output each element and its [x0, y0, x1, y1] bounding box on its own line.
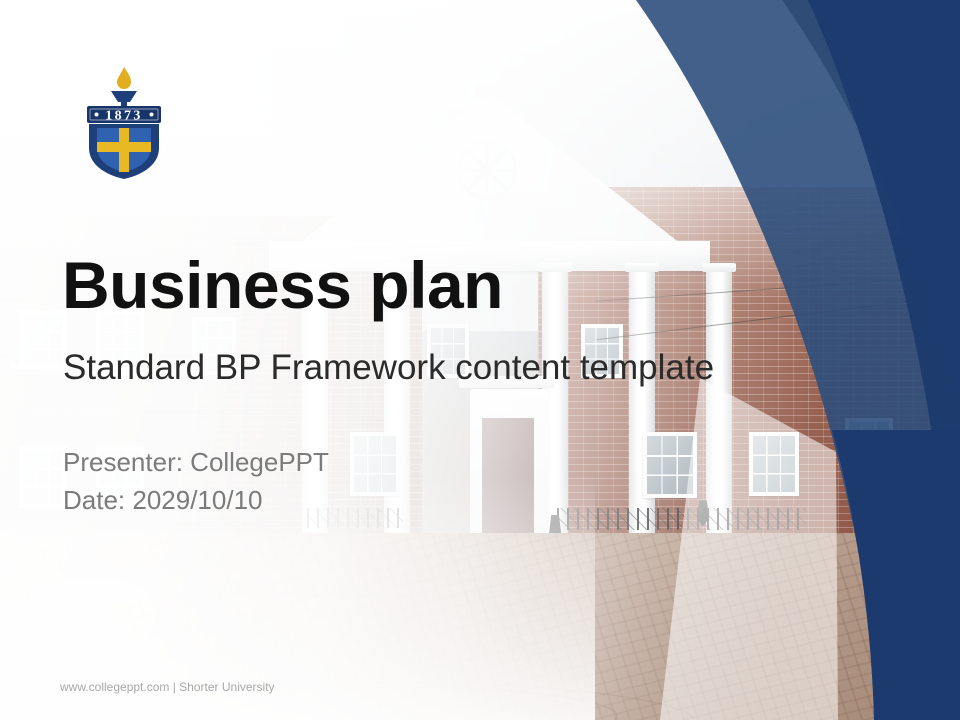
page-subtitle: Standard BP Framework content template [63, 350, 714, 385]
presentation-meta: Presenter: CollegePPT Date: 2029/10/10 [63, 444, 329, 519]
date-line: Date: 2029/10/10 [63, 482, 329, 520]
presentation-slide: 1873 Business plan Standard BP Framework… [0, 0, 960, 720]
cross-horizontal [97, 142, 151, 152]
university-logo: 1873 [78, 62, 170, 180]
presenter-line: Presenter: CollegePPT [63, 444, 329, 482]
banner-dot-right [150, 113, 154, 117]
banner-dot-left [95, 113, 99, 117]
founding-year-text: 1873 [105, 109, 143, 124]
torch-bowl-icon [111, 91, 137, 102]
slide-footer: www.collegeppt.com | Shorter University [60, 680, 275, 694]
torch-flame-icon [117, 67, 131, 89]
page-title: Business plan [62, 252, 503, 318]
torch-stem [121, 101, 127, 106]
shield-logo-svg: 1873 [78, 62, 170, 180]
